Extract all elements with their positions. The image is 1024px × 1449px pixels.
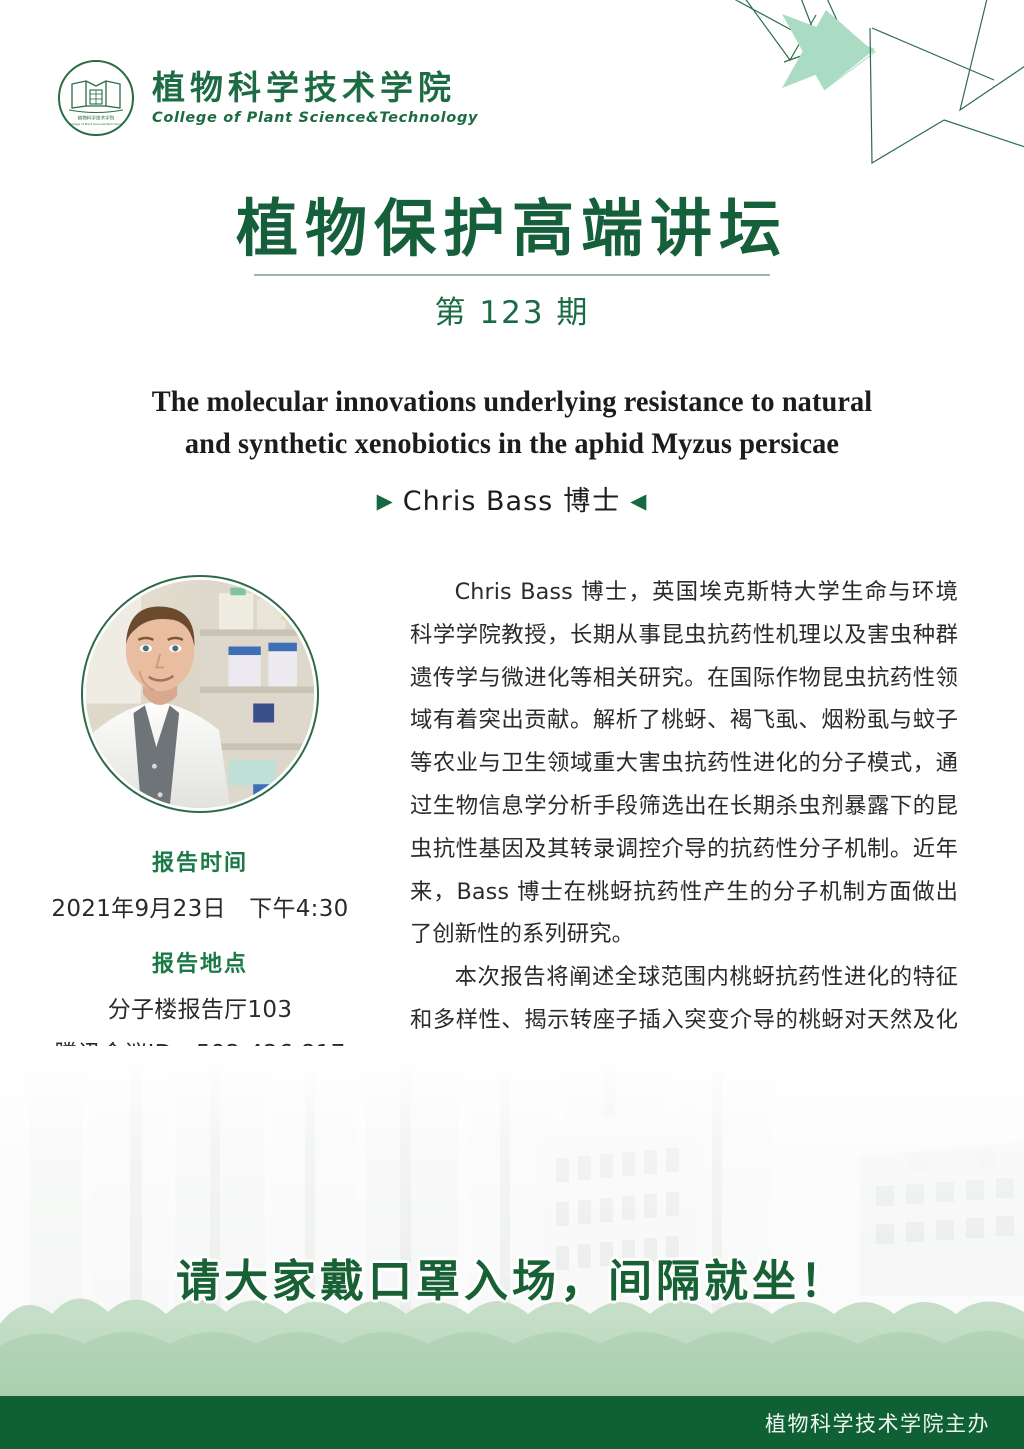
talk-title-line1: The molecular innovations underlying res… <box>80 382 944 424</box>
svg-text:植物科学技术学院: 植物科学技术学院 <box>78 115 115 122</box>
triangle-right-icon: ◀ <box>630 489 647 513</box>
mask-notice: 请大家戴口罩入场，间隔就坐！ <box>0 1245 1024 1309</box>
campus-background-photo <box>0 1046 1024 1396</box>
decorative-triangles <box>694 0 1024 210</box>
bio-column: Chris Bass 博士，英国埃克斯特大学生命与环境科学学院教授，长期从事昆虫… <box>400 565 1024 1085</box>
college-seal-icon: 植物科学技术学院 College of Plant Science&Techno… <box>56 58 136 138</box>
place-label: 报告地点 <box>152 946 248 978</box>
title-divider <box>254 274 770 276</box>
svg-text:College of Plant Science&Techn: College of Plant Science&Technology <box>69 122 123 126</box>
organizer-text: 植物科学技术学院主办 <box>765 1408 990 1438</box>
speaker-title: 博士 <box>563 486 621 517</box>
avatar <box>81 575 319 813</box>
talk-title: The molecular innovations underlying res… <box>80 382 944 466</box>
content-area: 报告时间 2021年9月23日 下午4:30 报告地点 分子楼报告厅103 腾讯… <box>0 565 1024 1085</box>
speaker-portrait <box>86 580 314 808</box>
issue-number: 第 123 期 <box>0 287 1024 332</box>
college-logo: 植物科学技术学院 College of Plant Science&Techno… <box>56 58 478 138</box>
page-title: 植物保护高端讲坛 <box>0 196 1024 261</box>
place-value: 分子楼报告厅103 <box>108 990 293 1024</box>
triangle-left-icon: ▶ <box>377 489 394 513</box>
speaker-line: ▶Chris Bass博士◀ <box>0 479 1024 518</box>
poster-root: 植物科学技术学院 College of Plant Science&Techno… <box>0 0 1024 1449</box>
speaker-name: Chris Bass <box>403 486 553 517</box>
logo-name-cn: 植物科学技术学院 <box>152 71 478 104</box>
title-block: 植物保护高端讲坛 第 123 期 <box>0 196 1024 332</box>
logo-name-en: College of Plant Science&Technology <box>152 111 478 126</box>
time-value: 2021年9月23日 下午4:30 <box>51 889 348 923</box>
speaker-info-column: 报告时间 2021年9月23日 下午4:30 报告地点 分子楼报告厅103 腾讯… <box>0 565 400 1068</box>
talk-title-line2: and synthetic xenobiotics in the aphid M… <box>80 424 944 466</box>
bio-paragraph-1: Chris Bass 博士，英国埃克斯特大学生命与环境科学学院教授，长期从事昆虫… <box>410 571 958 956</box>
footer-bar: 植物科学技术学院主办 <box>0 1396 1024 1449</box>
time-label: 报告时间 <box>152 845 248 877</box>
